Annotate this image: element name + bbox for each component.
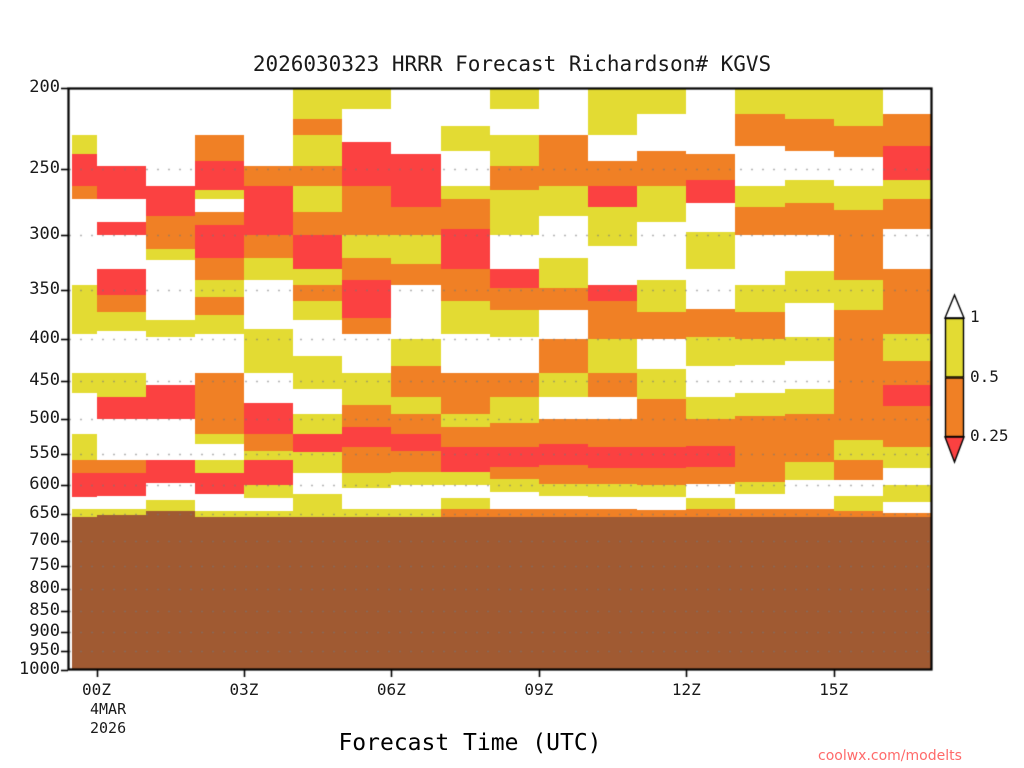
y-tick-label: 350 <box>2 279 60 299</box>
y-tick-label: 900 <box>2 621 60 641</box>
y-tick-label: 1000 <box>2 659 60 679</box>
y-tick-label: 850 <box>2 600 60 620</box>
x-tick-label: 00Z <box>82 680 111 699</box>
x-tick-label: 03Z <box>229 680 258 699</box>
watermark-link: coolwx.com/modelts <box>818 748 962 764</box>
y-tick-label: 200 <box>2 77 60 97</box>
y-tick-label: 700 <box>2 530 60 550</box>
x-tick-label: 06Z <box>377 680 406 699</box>
x-tick-label: 12Z <box>672 680 701 699</box>
x-tick-label: 09Z <box>524 680 553 699</box>
richardson-heatmap-canvas <box>0 0 1024 768</box>
colorbar-tick-label: 1 <box>970 307 980 326</box>
chart-figure: 2026030323 HRRR Forecast Richardson# KGV… <box>0 0 1024 768</box>
y-tick-label: 800 <box>2 578 60 598</box>
y-tick-label: 300 <box>2 224 60 244</box>
y-tick-label: 750 <box>2 555 60 575</box>
y-tick-label: 550 <box>2 443 60 463</box>
y-tick-label: 650 <box>2 503 60 523</box>
colorbar-tick-label: 0.25 <box>970 426 1009 445</box>
y-tick-label: 950 <box>2 640 60 660</box>
page-title: 2026030323 HRRR Forecast Richardson# KGV… <box>0 52 1024 76</box>
y-tick-label: 600 <box>2 474 60 494</box>
y-tick-label: 450 <box>2 370 60 390</box>
y-tick-label: 250 <box>2 158 60 178</box>
x-axis-label: Forecast Time (UTC) <box>120 730 820 756</box>
y-axis-ticks: 2002503003504004505005506006507007508008… <box>0 0 60 768</box>
colorbar-tick-label: 0.5 <box>970 367 999 386</box>
y-tick-label: 400 <box>2 328 60 348</box>
y-tick-label: 500 <box>2 408 60 428</box>
x-tick-label: 15Z <box>819 680 848 699</box>
